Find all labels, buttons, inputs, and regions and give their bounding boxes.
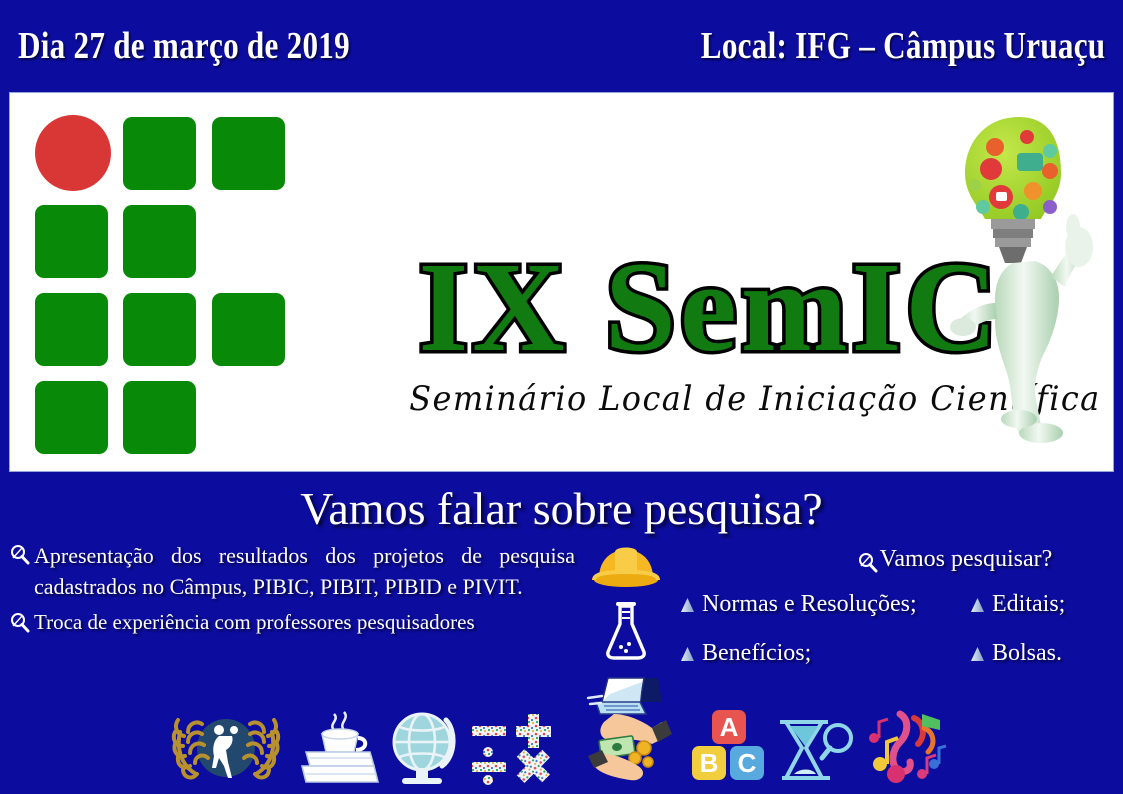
cup	[322, 729, 365, 752]
ifg-logo-square	[123, 117, 196, 190]
mascot-hand	[950, 318, 976, 336]
right-point-item: Benefícios;	[680, 640, 970, 667]
coffee-books-icon	[290, 708, 386, 786]
laurel-discus-icon	[172, 708, 280, 786]
plus-sign	[516, 714, 551, 748]
right-heading-text: Vamos pesquisar?	[880, 546, 1053, 573]
right-points-grid: Normas e Resoluções; Editais; Benefícios…	[680, 591, 1120, 667]
header-date: Dia 27 de março de 2019	[18, 24, 350, 68]
ifg-logo-square	[35, 205, 108, 278]
mid-icon-column	[585, 542, 667, 720]
ifg-logo-square	[35, 293, 108, 366]
white-panel: IX SemIC Seminário Local de Iniciação Ci…	[9, 92, 1114, 472]
math-symbols-icon	[470, 708, 564, 786]
money-hands-icon	[586, 708, 682, 784]
abc-blocks-icon: A B C	[690, 708, 770, 786]
triangle-bullet-icon	[680, 646, 695, 662]
right-points-column: Vamos pesquisar? Normas e Resoluções; Ed…	[680, 545, 1120, 667]
left-points-column: Apresentação dos resultados dos projetos…	[10, 540, 575, 644]
magnifier-icon	[10, 611, 30, 633]
right-point-item: Normas e Resoluções;	[680, 591, 970, 618]
hard-hat-icon	[591, 542, 661, 590]
books	[302, 752, 378, 782]
minus-sign	[472, 726, 506, 736]
music-notes-icon	[856, 708, 948, 788]
bulb-base	[991, 219, 1035, 263]
tagline: Vamos falar sobre pesquisa?	[0, 482, 1123, 535]
left-point-text: Troca de experiência com professores pes…	[34, 608, 575, 638]
hourglass-magnifier-icon	[772, 708, 854, 786]
right-point-text: Normas e Resoluções;	[702, 591, 917, 618]
event-subtitle: Seminário Local de Iniciação Científica	[409, 379, 1011, 419]
left-point-item: Apresentação dos resultados dos projetos…	[10, 540, 575, 602]
right-point-item: Editais;	[970, 591, 1120, 618]
magnifier-icon	[858, 551, 878, 573]
left-point-text: Apresentação dos resultados dos projetos…	[34, 540, 575, 602]
ifg-logo-square	[123, 293, 196, 366]
right-point-item: Bolsas.	[970, 640, 1120, 667]
poster-header: Dia 27 de março de 2019 Local: IFG – Câm…	[0, 0, 1123, 92]
right-point-text: Bolsas.	[992, 640, 1062, 667]
block-b-letter: B	[700, 748, 719, 778]
treble-clef	[893, 714, 910, 772]
globe-icon	[380, 708, 466, 788]
block-a-letter: A	[720, 712, 739, 742]
ifg-logo	[35, 115, 297, 455]
lightbulb-head-mascot	[955, 107, 1105, 459]
ifg-logo-square	[35, 381, 108, 454]
right-point-text: Benefícios;	[702, 640, 811, 667]
left-point-item: Troca de experiência com professores pes…	[10, 608, 575, 638]
header-location: Local: IFG – Câmpus Uruaçu	[700, 24, 1105, 68]
triangle-bullet-icon	[970, 646, 985, 662]
mascot-thumb	[1065, 214, 1093, 267]
divide-sign	[472, 747, 506, 785]
coin	[643, 757, 653, 767]
ifg-logo-square	[123, 381, 196, 454]
right-point-text: Editais;	[992, 591, 1065, 618]
block-c-letter: C	[738, 748, 757, 778]
ifg-logo-square	[212, 117, 285, 190]
mascot-body	[956, 246, 1086, 443]
event-title: IX SemIC	[390, 243, 1030, 371]
steam	[332, 712, 345, 730]
multiply-sign	[508, 741, 559, 792]
erlenmeyer-flask-icon	[602, 602, 650, 660]
ifg-logo-square	[123, 205, 196, 278]
triangle-bullet-icon	[970, 597, 985, 613]
triangle-bullet-icon	[680, 597, 695, 613]
ifg-logo-square	[212, 293, 285, 366]
bottom-icon-strip: A B C	[0, 704, 1123, 790]
right-section-heading: Vamos pesquisar?	[680, 545, 1120, 573]
poster-root: Dia 27 de março de 2019 Local: IFG – Câm…	[0, 0, 1123, 794]
sand-bottom	[794, 770, 816, 775]
magnifier-icon	[10, 543, 30, 565]
event-wordmark: IX SemIC Seminário Local de Iniciação Ci…	[390, 243, 1030, 419]
ifg-logo-red-circle	[35, 115, 111, 191]
